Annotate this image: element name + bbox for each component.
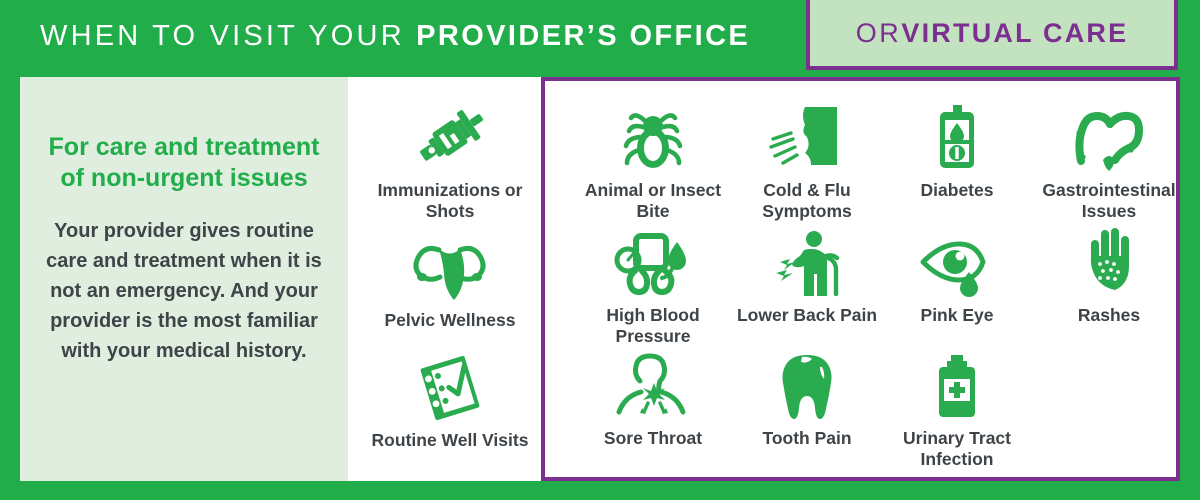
page-title-bold: PROVIDER’S OFFICE	[416, 20, 750, 52]
tile-label: Sore Throat	[604, 428, 702, 449]
body-area: For care and treatment of non-urgent iss…	[20, 77, 1180, 481]
virtual-care-banner-text: OR VIRTUAL CARE	[810, 0, 1174, 66]
info-panel-heading: For care and treatment of non-urgent iss…	[42, 132, 326, 194]
person-with-cane-icon	[770, 220, 844, 298]
syringe-icon	[411, 95, 489, 173]
tile-lower-back-pain[interactable]: Lower Back Pain	[727, 220, 887, 326]
tile-label: Routine Well Visits	[372, 430, 529, 451]
tile-sore-throat[interactable]: Sore Throat	[573, 343, 733, 449]
tooth-icon	[778, 343, 836, 421]
virtual-banner-light: OR	[856, 18, 902, 49]
tile-label: Immunizations or Shots	[370, 180, 530, 222]
infographic-root: WHEN TO VISIT YOUR PROVIDER’S OFFICE OR …	[0, 0, 1200, 500]
tile-label: Rashes	[1078, 305, 1140, 326]
tile-label: Tooth Pain	[762, 428, 851, 449]
head-throat-icon	[614, 343, 692, 421]
tile-animal-or-insect-bite[interactable]: Animal or Insect Bite	[573, 95, 733, 222]
tile-rashes[interactable]: Rashes	[1029, 220, 1189, 326]
tile-label: Gastrointestinal Issues	[1029, 180, 1189, 222]
info-panel: For care and treatment of non-urgent iss…	[20, 77, 348, 481]
tile-label: Lower Back Pain	[737, 305, 877, 326]
hand-rash-icon	[1078, 220, 1140, 298]
tile-cold-flu-symptoms[interactable]: Cold & Flu Symptoms	[727, 95, 887, 222]
tile-pelvic-wellness[interactable]: Pelvic Wellness	[370, 225, 530, 331]
virtual-banner-bold: VIRTUAL CARE	[901, 18, 1128, 49]
blood-pressure-cuff-icon	[614, 220, 692, 298]
medicine-bottle-icon	[927, 343, 987, 421]
page-title-light: WHEN TO VISIT YOUR	[40, 20, 416, 52]
tick-spider-icon	[616, 95, 690, 173]
tile-pink-eye[interactable]: Pink Eye	[877, 220, 1037, 326]
provider-office-column: Immunizations or Shots Pelvic Wellness	[360, 77, 540, 481]
intestines-icon	[1069, 95, 1149, 173]
info-panel-body: Your provider gives routine care and tre…	[42, 216, 326, 366]
tile-gastrointestinal-issues[interactable]: Gastrointestinal Issues	[1029, 95, 1189, 222]
uterus-icon	[409, 225, 491, 303]
tile-label: High Blood Pressure	[573, 305, 733, 347]
sneeze-tissue-icon	[767, 95, 847, 173]
tile-label: Pink Eye	[921, 305, 994, 326]
tile-urinary-tract-infection[interactable]: Urinary Tract Infection	[877, 343, 1037, 470]
eye-tear-icon	[917, 220, 997, 298]
checklist-icon	[415, 345, 485, 423]
tile-high-blood-pressure[interactable]: High Blood Pressure	[573, 220, 733, 347]
header-bar: WHEN TO VISIT YOUR PROVIDER’S OFFICE OR …	[0, 0, 1200, 77]
tile-label: Diabetes	[921, 180, 994, 201]
tile-immunizations-or-shots[interactable]: Immunizations or Shots	[370, 95, 530, 222]
tile-label: Cold & Flu Symptoms	[727, 180, 887, 222]
tile-tooth-pain[interactable]: Tooth Pain	[727, 343, 887, 449]
tile-label: Animal or Insect Bite	[573, 180, 733, 222]
glucose-meter-icon	[928, 95, 986, 173]
virtual-care-box: Animal or Insect Bite Cold & Flu Sympt	[541, 77, 1180, 481]
tile-routine-well-visits[interactable]: Routine Well Visits	[370, 345, 530, 451]
tile-label: Pelvic Wellness	[384, 310, 515, 331]
virtual-care-banner: OR VIRTUAL CARE	[806, 0, 1178, 70]
tile-label: Urinary Tract Infection	[877, 428, 1037, 470]
page-title: WHEN TO VISIT YOUR PROVIDER’S OFFICE	[40, 17, 750, 55]
tile-diabetes[interactable]: Diabetes	[877, 95, 1037, 201]
